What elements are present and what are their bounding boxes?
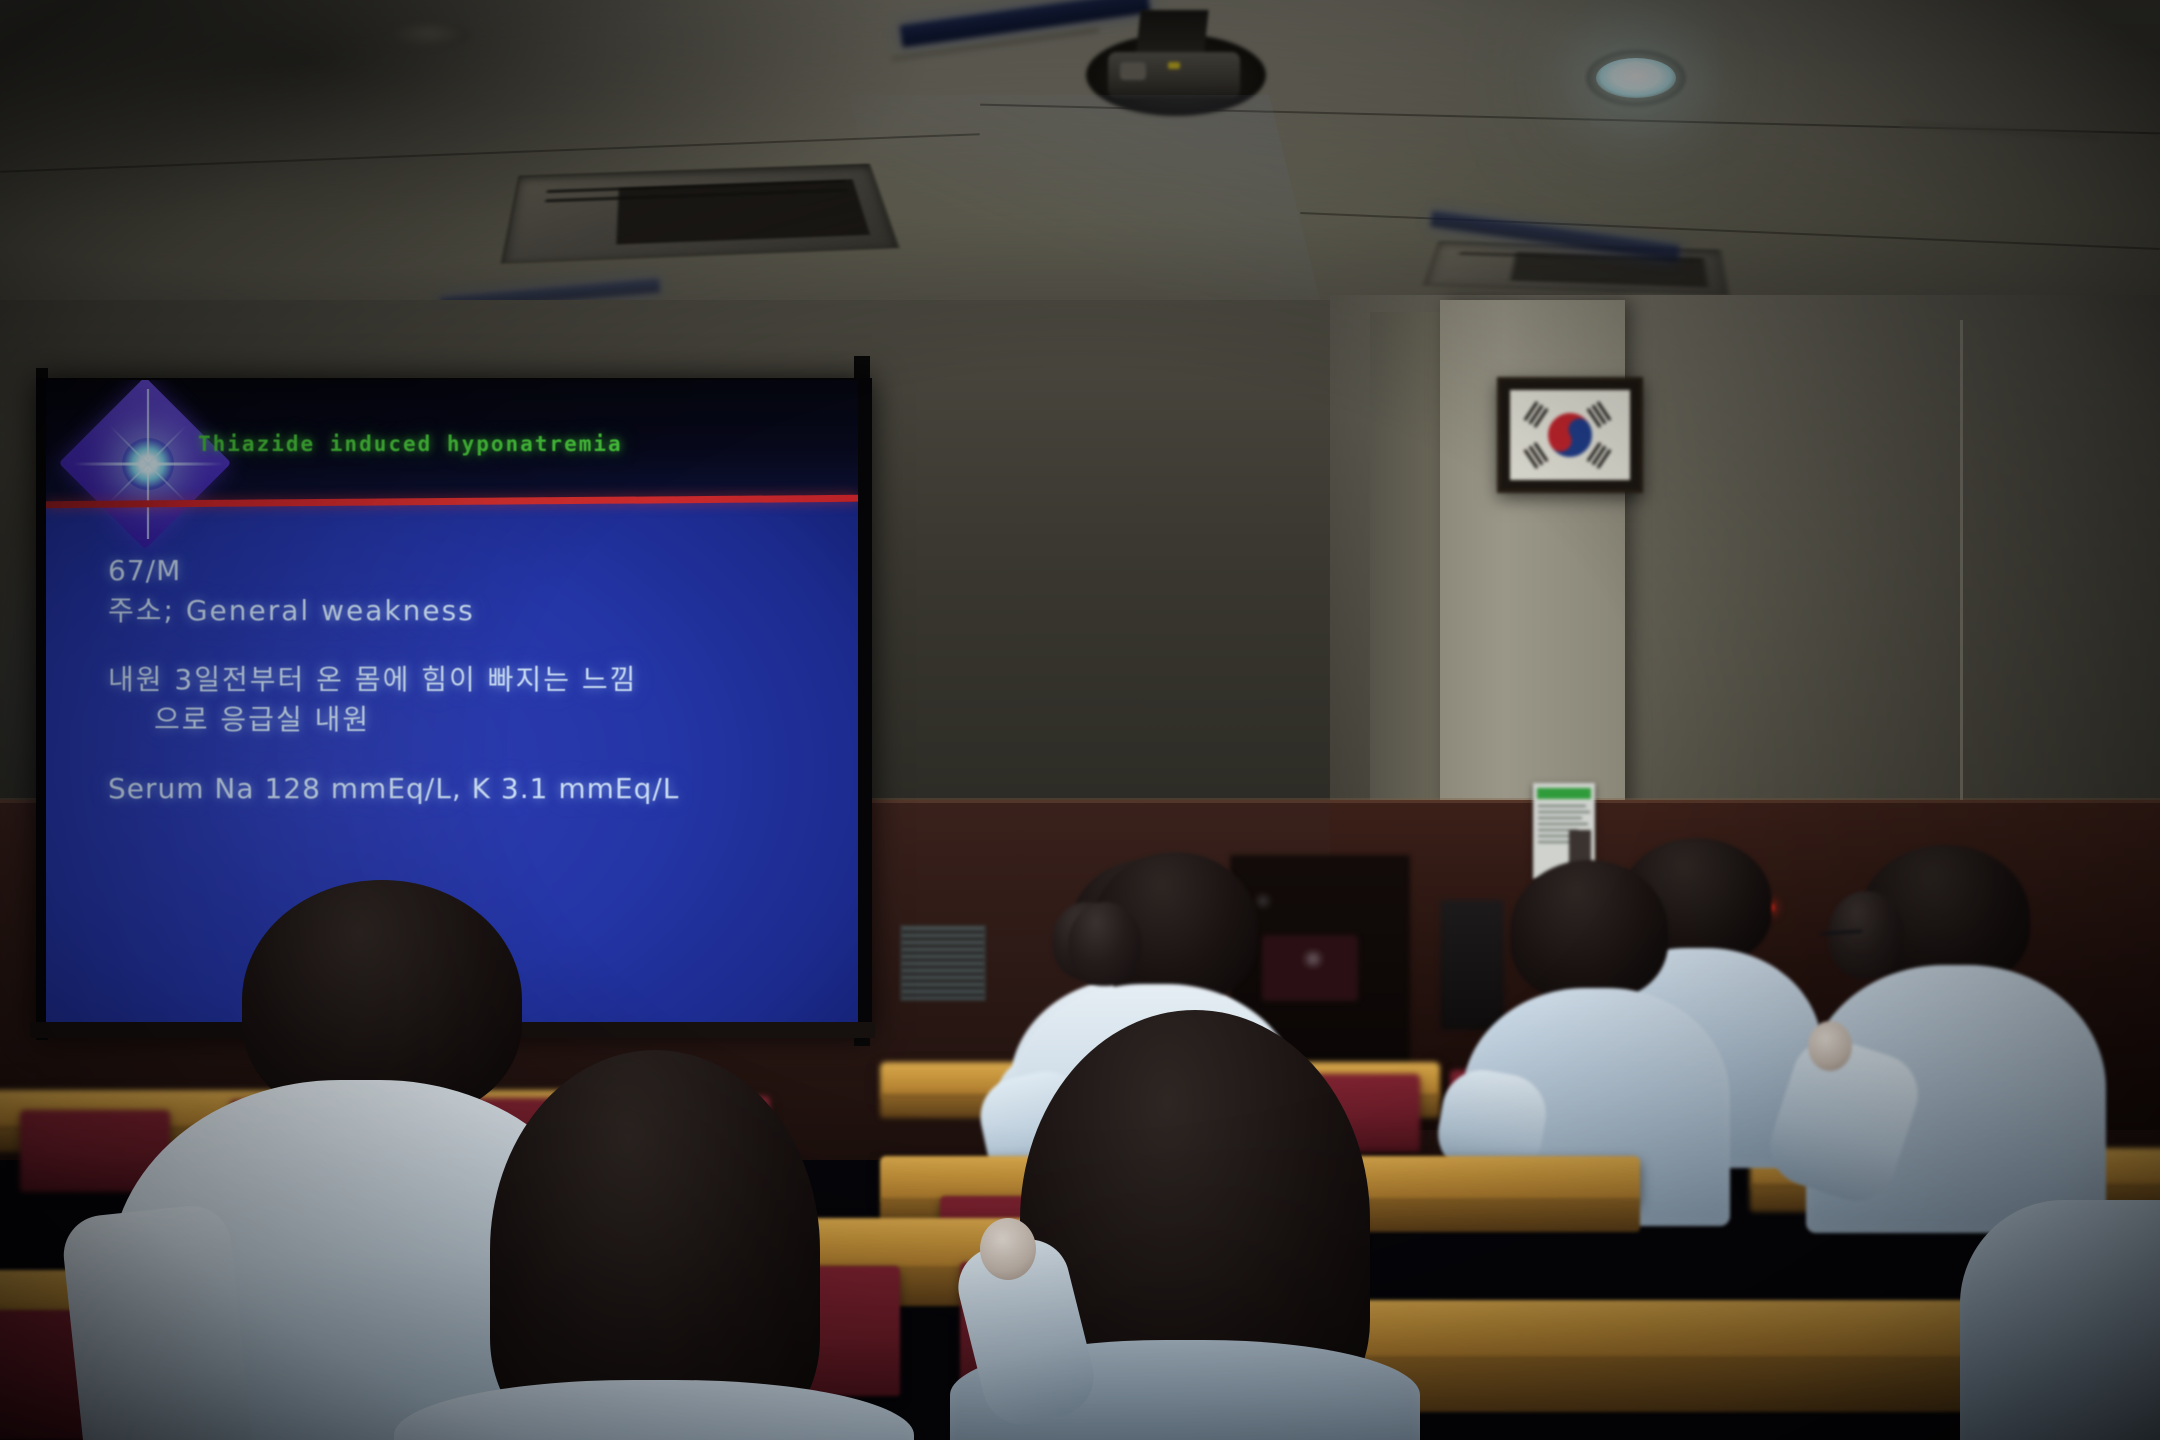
smoke-detector-icon xyxy=(388,22,470,48)
pillar-side-face xyxy=(1370,312,1442,820)
alcove-equipment xyxy=(1262,935,1358,1001)
slide-body: 67/M 주소; General weakness 내원 3일전부터 온 몸에 … xyxy=(108,552,808,810)
slide-line-chief-complaint: 주소; General weakness xyxy=(108,592,808,630)
slide-line-labs: Serum Na 128 mmEq/L, K 3.1 mmEq/L xyxy=(108,770,808,808)
notice-header-band xyxy=(1537,788,1591,799)
ac-vent xyxy=(501,164,900,264)
slide-line-history-2: 으로 응급실 내원 xyxy=(108,701,808,739)
slide-title: Thiazide induced hyponatremia xyxy=(198,432,623,456)
trigram-gon xyxy=(1587,442,1612,469)
ceiling-projector xyxy=(1080,8,1270,126)
trigram-ri xyxy=(1524,442,1549,469)
wall-air-grille xyxy=(900,925,986,1001)
alcove-glint xyxy=(1255,895,1271,907)
korean-flag-icon xyxy=(1510,390,1630,480)
wall-seam xyxy=(1960,320,1963,820)
trigram-gam xyxy=(1587,401,1612,428)
slide-line-age-sex: 67/M xyxy=(108,552,808,590)
slide-line-history-1: 내원 3일전부터 온 몸에 힘이 빠지는 느낌 xyxy=(108,661,808,699)
korean-flag-frame xyxy=(1497,377,1643,493)
lecture-hall-photo: Thiazide induced hyponatremia 67/M 주소; G… xyxy=(0,0,2160,1440)
trigram-geon xyxy=(1524,401,1549,428)
wall-speaker xyxy=(1440,900,1504,1030)
ceiling-downlight-icon xyxy=(1596,58,1676,98)
alcove-glint xyxy=(1300,950,1326,968)
slide-starburst-rays xyxy=(122,438,174,490)
